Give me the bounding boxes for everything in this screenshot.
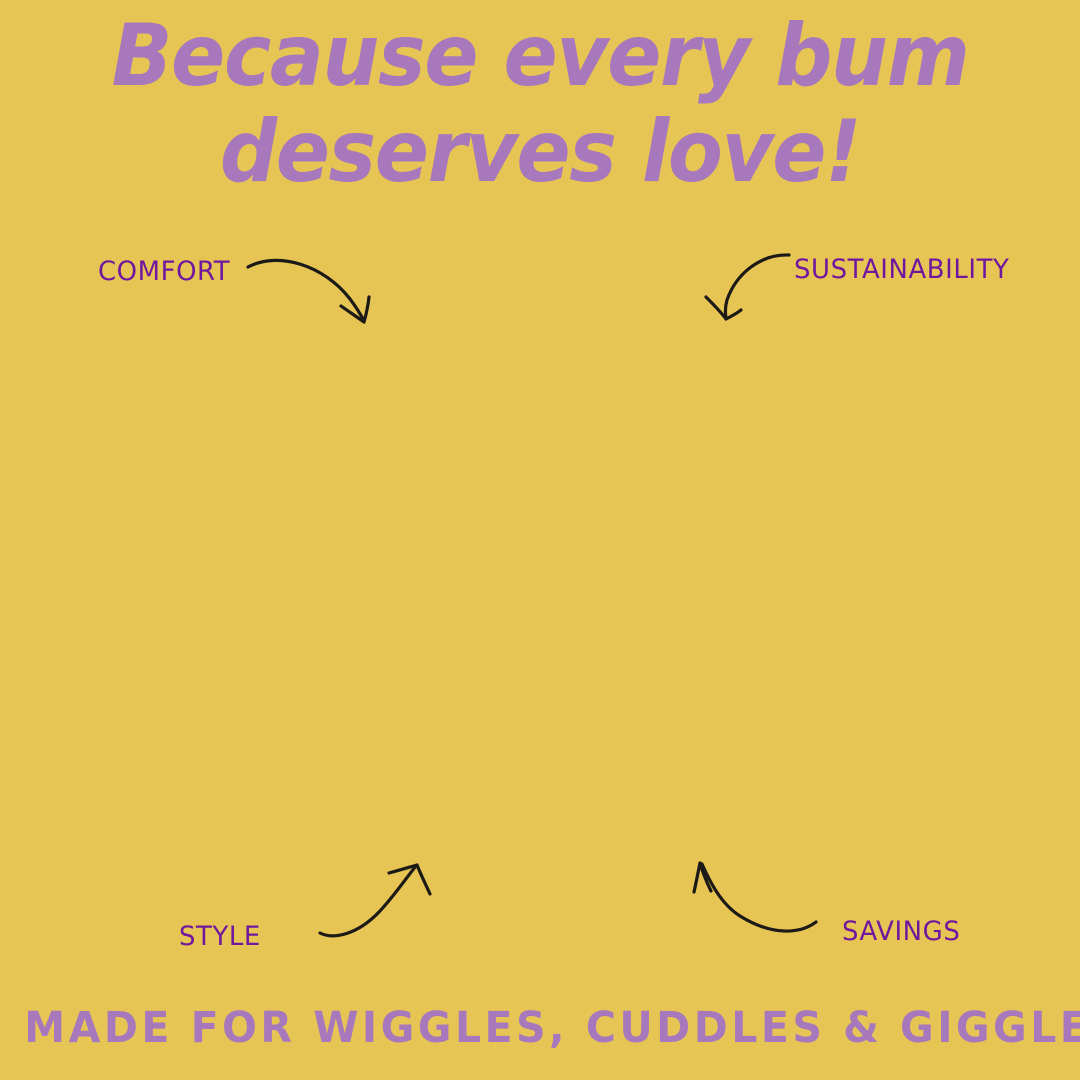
feature-label-sustainability: SUSTAINABILITY [794, 254, 1009, 285]
page-title: Because every bum deserves love! [38, 8, 1042, 200]
promo-poster: Because every bum deserves love! COMFORT… [0, 0, 1080, 1080]
tagline: MADE FOR WIGGLES, CUDDLES & GIGGLES! [24, 1002, 1055, 1054]
product-stage [0, 350, 1080, 830]
headline-line-1: Because every bum [38, 8, 1042, 104]
headline-line-2: deserves love! [38, 104, 1042, 200]
feature-label-comfort: COMFORT [98, 256, 230, 287]
feature-label-style: STYLE [179, 921, 261, 952]
feature-label-savings: SAVINGS [842, 916, 960, 947]
